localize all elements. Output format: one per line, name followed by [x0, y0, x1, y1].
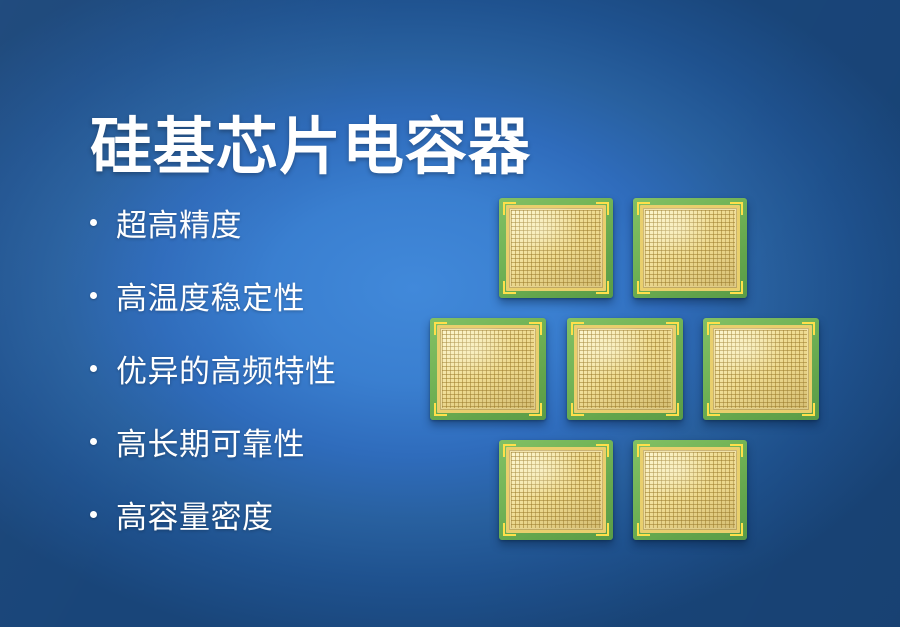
list-item: 高容量密度 — [90, 478, 337, 551]
chip-die-pad-array — [574, 325, 676, 413]
list-item: 优异的高频特性 — [90, 332, 337, 405]
bullet-label: 高温度稳定性 — [116, 273, 305, 318]
bullet-label: 优异的高频特性 — [116, 346, 337, 391]
chip-die-pad-array — [506, 447, 606, 533]
page-title: 硅基芯片电容器 — [90, 112, 531, 183]
chip-top-right — [633, 198, 747, 298]
bullet-label: 超高精度 — [116, 200, 242, 245]
chip-bottom-right — [633, 440, 747, 540]
chip-die-pad-array — [640, 205, 740, 291]
bullet-dot-icon — [90, 292, 97, 299]
bullet-dot-icon — [90, 438, 97, 445]
chip-middle-left — [430, 318, 546, 420]
chip-die-pad-array — [640, 447, 740, 533]
slide-canvas: 硅基芯片电容器 超高精度 高温度稳定性 优异的高频特性 高长期可靠性 高容量密度 — [0, 0, 900, 627]
bullet-dot-icon — [90, 219, 97, 226]
chip-die-pad-array — [710, 325, 812, 413]
bullet-label: 高长期可靠性 — [116, 419, 305, 464]
feature-bullet-list: 超高精度 高温度稳定性 优异的高频特性 高长期可靠性 高容量密度 — [90, 186, 337, 551]
list-item: 高温度稳定性 — [90, 259, 337, 332]
chip-middle-right — [703, 318, 819, 420]
chip-die-pad-array — [437, 325, 539, 413]
list-item: 超高精度 — [90, 186, 337, 259]
bullet-dot-icon — [90, 511, 97, 518]
chip-top-left — [499, 198, 613, 298]
list-item: 高长期可靠性 — [90, 405, 337, 478]
chip-bottom-left — [499, 440, 613, 540]
chip-middle-center — [567, 318, 683, 420]
bullet-label: 高容量密度 — [116, 492, 274, 537]
bullet-dot-icon — [90, 365, 97, 372]
chip-die-pad-array — [506, 205, 606, 291]
